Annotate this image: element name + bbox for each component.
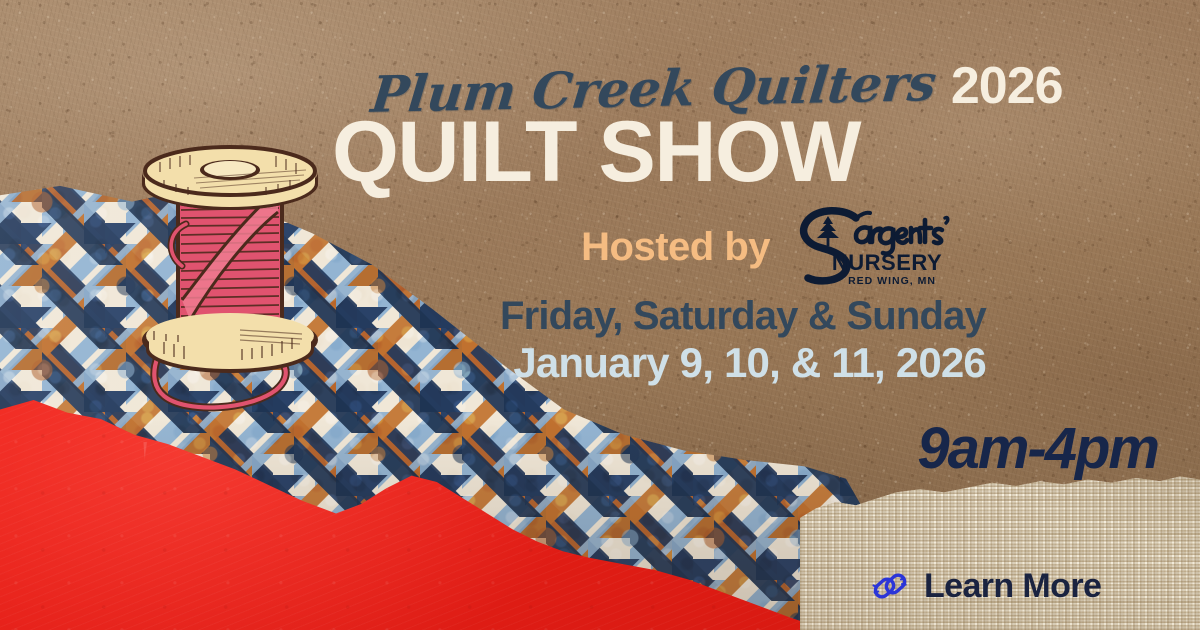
event-days: Friday, Saturday & Sunday xyxy=(330,294,990,338)
script-and-year-row: Plum Creek Quilters 2026 xyxy=(372,52,990,114)
logo-nursery-text: NURSERY xyxy=(832,250,942,275)
sargents-nursery-logo: NURSERY RED WING, MN xyxy=(792,204,972,290)
hosted-by-label: Hosted by xyxy=(581,227,770,267)
learn-more-label: Learn More xyxy=(924,569,1101,603)
logo-location-text: RED WING, MN xyxy=(848,275,936,287)
quilt-show-poster: Plum Creek Quilters 2026 QUILT SHOW Host… xyxy=(0,0,1200,630)
headline-block: Plum Creek Quilters 2026 QUILT SHOW Host… xyxy=(330,52,990,386)
learn-more-button[interactable]: Learn More xyxy=(870,566,1101,606)
page-title: QUILT SHOW xyxy=(332,112,990,194)
event-dates: January 9, 10, & 11, 2026 xyxy=(330,340,990,386)
thread-spool-illustration xyxy=(130,128,330,413)
hosted-by-row: Hosted by xyxy=(330,204,990,290)
chain-link-icon xyxy=(870,566,910,606)
year-label: 2026 xyxy=(951,60,1063,114)
organization-script-title: Plum Creek Quilters xyxy=(369,58,938,120)
event-hours: 9am-4pm xyxy=(917,420,1158,478)
